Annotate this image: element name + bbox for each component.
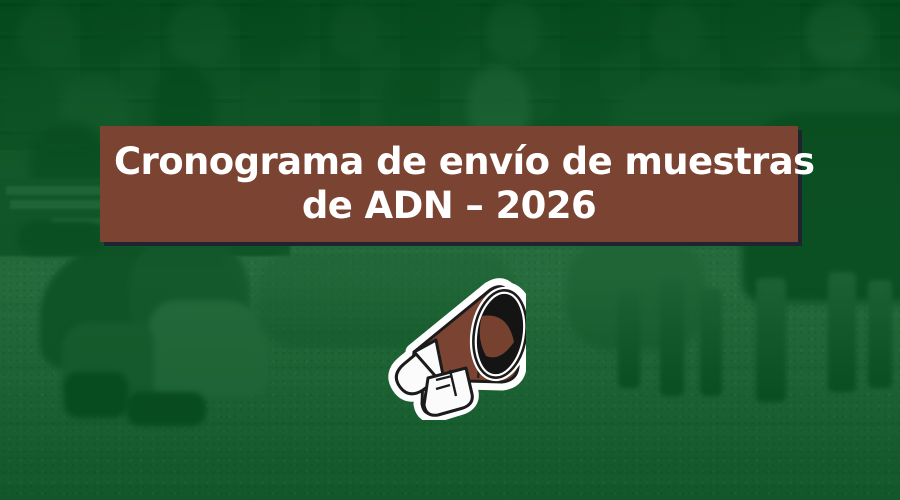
green-color-overlay xyxy=(0,0,900,500)
megaphone-icon xyxy=(378,268,526,420)
headline-line-2: de ADN – 2026 xyxy=(114,184,784,228)
background-photo xyxy=(0,0,900,500)
headline-banner: Cronograma de envío de muestras de ADN –… xyxy=(100,126,798,242)
headline-line-1: Cronograma de envío de muestras xyxy=(114,140,784,184)
promo-banner: Cronograma de envío de muestras de ADN –… xyxy=(0,0,900,500)
page-title: Cronograma de envío de muestras de ADN –… xyxy=(100,140,798,227)
